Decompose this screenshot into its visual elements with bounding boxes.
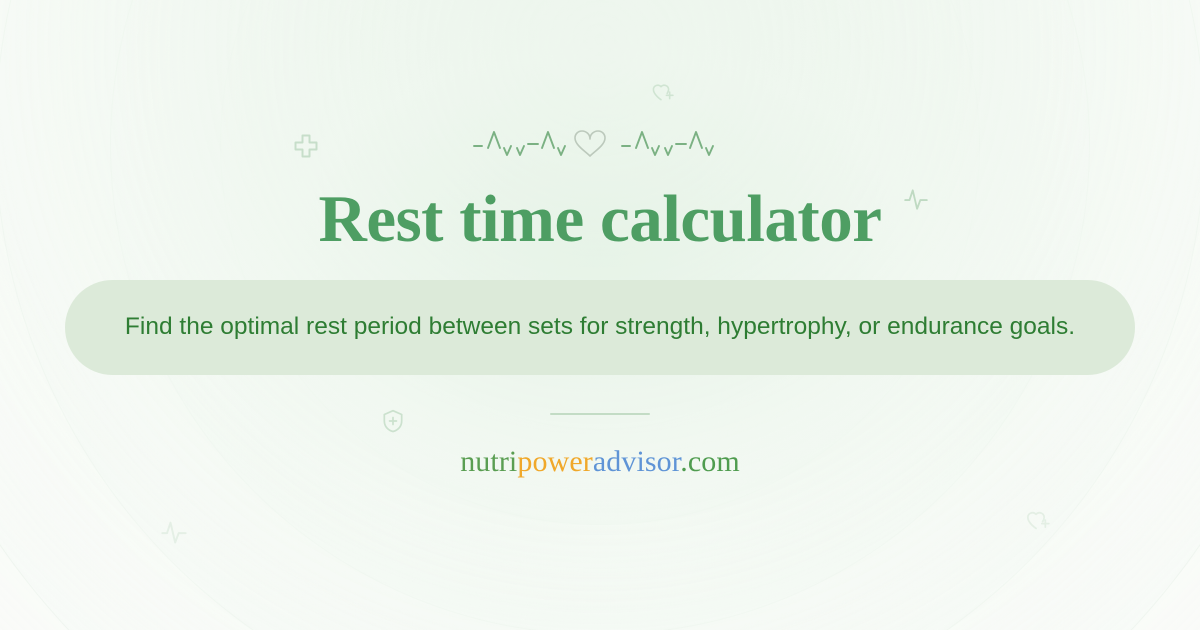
domain-part-tld: .com: [680, 445, 740, 478]
subtitle-pill: Find the optimal rest period between set…: [65, 280, 1135, 375]
page-subtitle: Find the optimal rest period between set…: [125, 310, 1075, 345]
domain-part-nutri: nutri: [460, 445, 517, 478]
page-title: Rest time calculator: [318, 186, 881, 253]
domain-part-advisor: advisor: [593, 445, 680, 478]
site-domain: nutripoweradvisor.com: [460, 445, 740, 479]
og-card-canvas: Rest time calculator Find the optimal re…: [0, 0, 1200, 630]
divider: [550, 413, 650, 415]
hero-content: Rest time calculator Find the optimal re…: [0, 0, 1200, 630]
domain-part-power: power: [517, 445, 592, 478]
